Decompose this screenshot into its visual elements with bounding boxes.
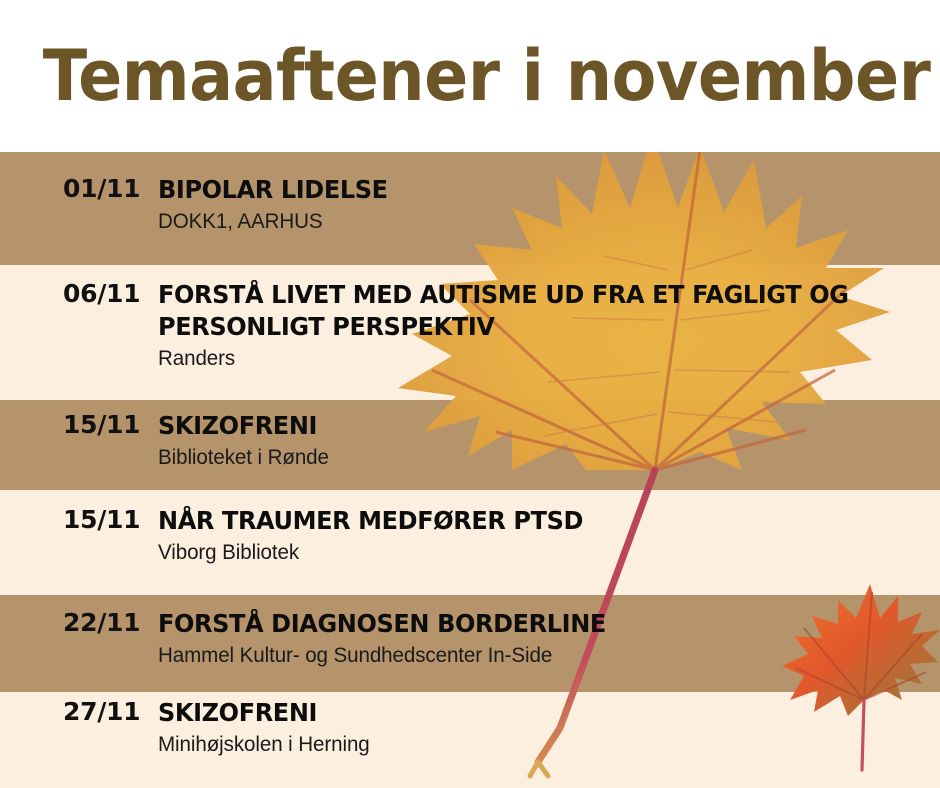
event-venue: DOKK1, AARHUS	[158, 208, 915, 235]
event-row[interactable]: 15/11NÅR TRAUMER MEDFØRER PTSDViborg Bib…	[0, 505, 940, 566]
event-title: SKIZOFRENI	[158, 697, 899, 729]
event-row[interactable]: 15/11SKIZOFRENIBiblioteket i Rønde	[0, 410, 940, 471]
event-row[interactable]: 01/11BIPOLAR LIDELSEDOKK1, AARHUS	[0, 174, 940, 235]
event-date: 01/11	[0, 174, 158, 204]
event-title: BIPOLAR LIDELSE	[158, 174, 899, 206]
event-title: NÅR TRAUMER MEDFØRER PTSD	[158, 505, 899, 537]
event-date: 15/11	[0, 410, 158, 440]
event-body: SKIZOFRENIMinihøjskolen i Herning	[158, 697, 940, 758]
event-venue: Biblioteket i Rønde	[158, 444, 915, 471]
event-body: FORSTÅ LIVET MED AUTISME UD FRA ET FAGLI…	[158, 279, 940, 372]
event-body: NÅR TRAUMER MEDFØRER PTSDViborg Bibliote…	[158, 505, 940, 566]
event-title: FORSTÅ LIVET MED AUTISME UD FRA ET FAGLI…	[158, 279, 899, 343]
event-body: FORSTÅ DIAGNOSEN BORDERLINEHammel Kultur…	[158, 608, 940, 669]
event-venue: Minihøjskolen i Herning	[158, 731, 915, 758]
event-date: 27/11	[0, 697, 158, 727]
event-venue: Hammel Kultur- og Sundhedscenter In-Side	[158, 642, 915, 669]
event-date: 22/11	[0, 608, 158, 638]
event-body: SKIZOFRENIBiblioteket i Rønde	[158, 410, 940, 471]
event-date: 06/11	[0, 279, 158, 309]
page-title: Temaaftener i november	[0, 37, 930, 115]
event-row[interactable]: 06/11FORSTÅ LIVET MED AUTISME UD FRA ET …	[0, 279, 940, 372]
event-row[interactable]: 22/11FORSTÅ DIAGNOSEN BORDERLINEHammel K…	[0, 608, 940, 669]
event-title: FORSTÅ DIAGNOSEN BORDERLINE	[158, 608, 899, 640]
event-title: SKIZOFRENI	[158, 410, 899, 442]
event-date: 15/11	[0, 505, 158, 535]
poster-header: Temaaftener i november	[0, 0, 940, 152]
event-body: BIPOLAR LIDELSEDOKK1, AARHUS	[158, 174, 940, 235]
event-venue: Viborg Bibliotek	[158, 539, 915, 566]
event-venue: Randers	[158, 345, 915, 372]
poster-canvas: 01/11BIPOLAR LIDELSEDOKK1, AARHUS06/11FO…	[0, 0, 940, 788]
event-row[interactable]: 27/11SKIZOFRENIMinihøjskolen i Herning	[0, 697, 940, 758]
